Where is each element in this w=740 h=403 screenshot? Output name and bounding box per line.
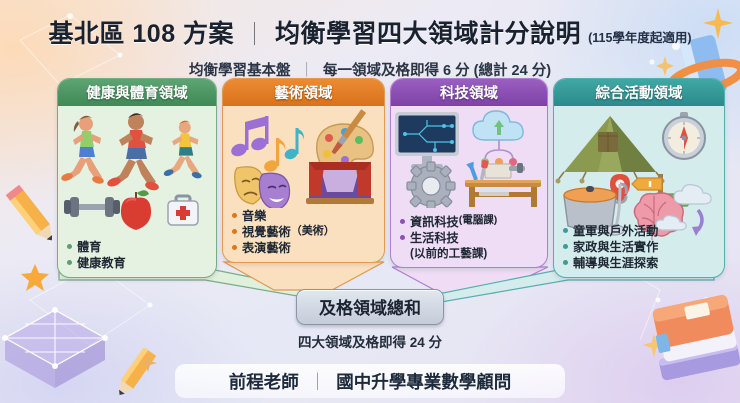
bullet-dot-icon <box>563 260 568 265</box>
list-item: 健康教育 <box>67 255 210 271</box>
runner-boy-icon <box>163 121 203 180</box>
computer-monitor-icon <box>395 112 459 169</box>
stage-curtain-icon <box>306 162 374 204</box>
column-header-arts: 藝術領域 <box>223 79 384 106</box>
list-item-note: （美術） <box>291 224 335 239</box>
bullet-dot-icon <box>232 213 237 218</box>
list-item: 音樂 <box>232 208 378 224</box>
list-item: 視覺藝術 （美術） <box>232 224 378 240</box>
theater-masks-icon <box>235 167 290 208</box>
title-separator: ｜ <box>243 15 266 49</box>
summary-note: 四大領域及格即得 24 分 <box>0 331 740 351</box>
pencil-icon <box>96 348 176 403</box>
list-item: 生活科技 <box>400 230 541 246</box>
bullet-dot-icon <box>400 219 405 224</box>
bullet-dot-icon <box>563 244 568 249</box>
domain-columns: 健康與體育領域 <box>0 78 740 293</box>
summary-section: 及格領域總和 四大領域及格即得 24 分 <box>0 289 740 351</box>
list-item-label: 資訊科技 <box>410 214 459 230</box>
bullet-dot-icon <box>67 260 72 265</box>
list-item: 童軍與戶外活動 <box>563 223 718 239</box>
list-item-note: (電腦課) <box>459 214 498 228</box>
summary-box: 及格領域總和 <box>296 289 444 325</box>
subtitle-separator: ｜ <box>300 63 315 79</box>
arts-illustration <box>223 108 385 208</box>
infographic-canvas: 基北區 108 方案 ｜ 均衡學習四大領域計分說明 (115學年度起適用) 均衡… <box>0 0 740 403</box>
footer-bar: 前程老師 ｜ 國中升學專業數學顧問 <box>175 364 565 398</box>
dumbbell-icon <box>64 197 120 217</box>
runner-man-icon <box>106 113 160 191</box>
list-item: 表演藝術 <box>232 240 378 256</box>
list-item-label: 輔導與生涯探索 <box>573 255 658 271</box>
bullet-dot-icon <box>67 244 72 249</box>
domain-column-tech[interactable]: 科技領域 <box>390 78 548 268</box>
title-row: 基北區 108 方案 ｜ 均衡學習四大領域計分說明 (115學年度起適用) <box>0 14 740 50</box>
comprehensive-bullets: 童軍與戶外活動 家政與生活實作 輔導與生涯探索 <box>563 223 718 271</box>
health-illustration <box>58 108 217 238</box>
list-item-label: 表演藝術 <box>242 240 291 256</box>
subtitle: 均衡學習基本盤 ｜ 每一領域及格即得 6 分 (總計 24 分) <box>0 59 740 80</box>
domain-column-health[interactable]: 健康與體育領域 <box>57 78 217 278</box>
cloud-network-icon <box>473 111 523 166</box>
list-item-label: 生活科技 <box>410 230 459 246</box>
compass-icon <box>663 112 705 159</box>
gear-icon <box>407 162 455 208</box>
list-item: 體育 <box>67 239 210 255</box>
music-notes-icon <box>229 116 303 174</box>
comprehensive-illustration <box>554 108 725 240</box>
header: 基北區 108 方案 ｜ 均衡學習四大領域計分說明 (115學年度起適用) 均衡… <box>0 0 740 80</box>
domain-column-comprehensive[interactable]: 綜合活動領域 <box>553 78 725 278</box>
apple-icon <box>121 190 151 230</box>
sparkle-icon <box>138 353 158 373</box>
page-title-secondary: 均衡學習四大領域計分說明 <box>275 14 581 50</box>
tech-bullets: 資訊科技 (電腦課) 生活科技 (以前的工藝課) <box>400 214 541 261</box>
tech-illustration <box>391 108 548 208</box>
bullet-dot-icon <box>400 235 405 240</box>
page-title-main: 基北區 108 方案 <box>48 14 234 50</box>
health-bullets: 體育 健康教育 <box>67 239 210 271</box>
footer-brand: 前程老師 <box>229 369 299 394</box>
page-title-note: (115學年度起適用) <box>588 27 692 46</box>
list-item-label: 音樂 <box>242 208 266 224</box>
first-aid-kit-icon <box>168 196 198 225</box>
footer-separator: ｜ <box>309 369 327 394</box>
runner-girl-icon <box>60 116 105 185</box>
bullet-dot-icon <box>232 245 237 250</box>
subtitle-left: 均衡學習基本盤 <box>189 63 291 79</box>
list-item: 資訊科技 (電腦課) <box>400 214 541 230</box>
list-item-label: 健康教育 <box>77 255 126 271</box>
domain-column-arts[interactable]: 藝術領域 <box>222 78 385 263</box>
bullet-dot-icon <box>232 229 237 234</box>
list-item-label: 體育 <box>77 239 101 255</box>
tent-icon <box>556 116 665 184</box>
arts-bullets: 音樂 視覺藝術 （美術） 表演藝術 <box>232 208 378 256</box>
workbench-tools-icon <box>465 160 541 207</box>
list-item: 輔導與生涯探索 <box>563 255 718 271</box>
list-item-sub-note: (以前的工藝課) <box>410 247 541 261</box>
column-header-tech: 科技領域 <box>391 79 547 106</box>
list-item-label: 童軍與戶外活動 <box>573 223 658 239</box>
footer-tagline: 國中升學專業數學顧問 <box>336 369 511 394</box>
list-item-label: 視覺藝術 <box>242 224 291 240</box>
subtitle-right: 每一領域及格即得 6 分 (總計 24 分) <box>323 63 551 79</box>
bullet-dot-icon <box>563 228 568 233</box>
list-item: 家政與生活實作 <box>563 239 718 255</box>
column-header-health: 健康與體育領域 <box>58 79 216 106</box>
list-item-label: 家政與生活實作 <box>573 239 658 255</box>
column-header-comprehensive: 綜合活動領域 <box>554 79 724 106</box>
